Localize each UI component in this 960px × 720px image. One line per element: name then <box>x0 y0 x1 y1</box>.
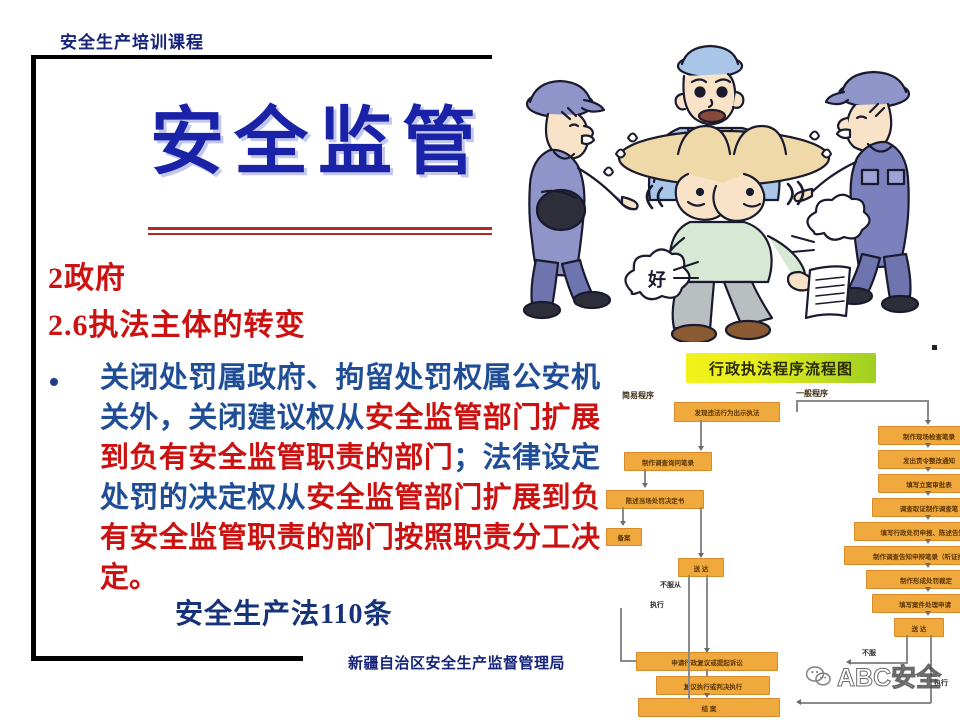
flow-arrow-icon <box>925 443 931 448</box>
flow-arrow-icon <box>925 491 931 496</box>
flow-edge <box>700 420 702 448</box>
flow-edge <box>688 647 690 699</box>
flow-box-close-case[interactable]: 结 案 <box>638 698 780 717</box>
flow-arrow-icon <box>925 420 931 425</box>
flowchart-label-general: 一般程序 <box>796 388 828 399</box>
section-heading-1: 2政府 <box>48 253 126 297</box>
flow-box-left-1[interactable]: 制作调查询问笔录 <box>624 452 712 471</box>
flow-edge <box>800 702 931 704</box>
section-heading-2: 2.6执法主体的转变 <box>48 300 306 344</box>
flow-label-dissent: 不服 <box>862 648 876 658</box>
flow-arrow-icon <box>925 515 931 520</box>
flow-box-delivery-right[interactable]: 送 达 <box>894 618 944 637</box>
flow-box-left-3[interactable]: 备案 <box>606 528 642 546</box>
flow-edge <box>706 575 708 609</box>
flow-box-right-5[interactable]: 制作调查告知申辩笔录（听证报告） <box>844 546 960 565</box>
flow-arrow-icon <box>925 467 931 472</box>
body-paragraph: 关闭处罚属政府、拘留处罚权属公安机关外，关闭建议权从安全监管部门扩展到负有安全监… <box>100 358 600 598</box>
flow-box-delivery[interactable]: 送 达 <box>678 558 724 577</box>
flow-arrow-icon <box>642 483 648 488</box>
flow-box-left-0[interactable]: 发现违法行为出示执法 <box>674 402 780 422</box>
flow-edge <box>930 635 932 703</box>
flow-edge <box>620 660 636 662</box>
flow-arrow-icon <box>704 648 710 653</box>
law-reference-text: 安全生产法110条 <box>175 592 392 632</box>
flow-edge <box>706 669 708 676</box>
flow-arrow-icon <box>925 563 931 568</box>
flow-box-right-1[interactable]: 发出责令整改通知 <box>878 450 960 469</box>
stray-dot-mark <box>932 345 937 350</box>
flow-box-right-7[interactable]: 填写案件处理申请 <box>872 594 960 613</box>
flow-edge <box>796 400 798 412</box>
flow-box-right-3[interactable]: 调查取证制作调查笔 <box>872 498 960 517</box>
course-header-title: 安全生产培训课程 <box>60 28 204 53</box>
flow-edge <box>906 635 908 663</box>
flow-label-disobey: 不服从 <box>660 580 681 590</box>
paper-document <box>806 266 850 318</box>
flow-arrow-icon <box>925 611 931 616</box>
flow-edge <box>688 575 690 647</box>
flow-arrow-icon <box>846 659 851 665</box>
administrative-enforcement-flowchart: 行政执法程序流程图 简易程序 一般程序 发现违法行为出示执法 制作调查询问笔录 … <box>600 342 960 720</box>
speech-bubble-char: 好 <box>647 269 666 290</box>
flow-edge <box>620 608 622 660</box>
flow-edge <box>850 662 908 664</box>
bullet-point-icon <box>50 378 58 386</box>
flow-arrow-icon <box>620 521 626 526</box>
flow-box-right-6[interactable]: 制作形成处罚裁定 <box>866 570 960 589</box>
flow-arrow-icon <box>698 446 704 451</box>
flow-edge <box>927 400 929 422</box>
flow-box-right-0[interactable]: 制作现场检查笔录 <box>878 426 960 445</box>
flow-label-execute-2: 执行 <box>934 678 948 688</box>
cartoon-illustration: 好 <box>492 42 960 360</box>
flow-box-enforce[interactable]: 复议执行或判决执行 <box>656 676 770 695</box>
slide-frame-top-border <box>31 55 501 59</box>
flowchart-title: 行政执法程序流程图 <box>686 353 876 383</box>
flow-arrow-icon <box>796 699 801 705</box>
flow-box-left-2[interactable]: 陈述当场处罚决定书 <box>606 490 704 509</box>
flow-box-right-2[interactable]: 填写立案审批表 <box>878 474 960 493</box>
title-divider-rule <box>148 227 496 230</box>
slide-frame-bottom-border <box>31 656 303 661</box>
presentation-slide: 安全生产培训课程 安全监管 2政府 2.6执法主体的转变 关闭处罚属政府、拘留处… <box>0 0 960 720</box>
flow-label-execute: 执行 <box>650 600 664 610</box>
flow-edge <box>700 507 702 555</box>
flowchart-label-simple: 简易程序 <box>622 390 654 401</box>
footer-organization: 新疆自治区安全生产监督管理局 <box>348 652 565 673</box>
flow-box-right-4[interactable]: 填写行政处罚申报、陈述告知书 <box>854 522 960 541</box>
flow-arrow-icon <box>925 539 931 544</box>
slide-frame-left-border <box>31 55 36 660</box>
flow-arrow-icon <box>925 587 931 592</box>
flow-edge <box>796 400 928 402</box>
